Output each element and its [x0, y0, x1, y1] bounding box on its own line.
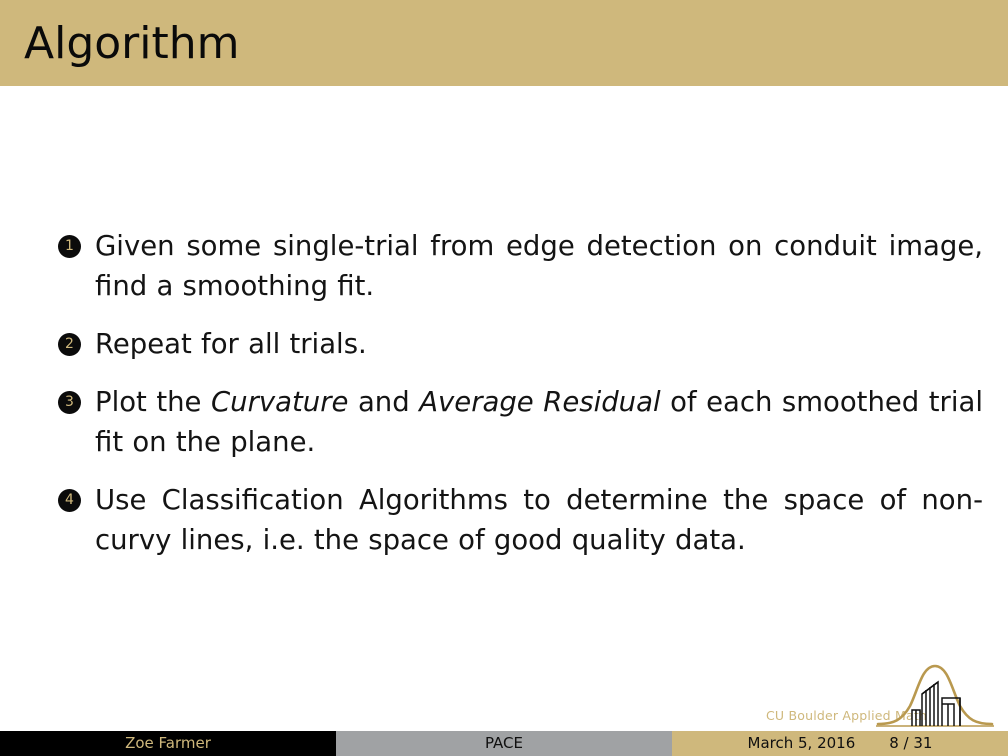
step-3-emph-curvature: Curvature	[211, 386, 349, 418]
list-item: 3 Plot the Curvature and Average Residua…	[58, 382, 983, 462]
step-3-text-middle: and	[348, 386, 419, 418]
list-item: 2 Repeat for all trials.	[58, 324, 983, 364]
footer-meta: March 5, 2016 8 / 31	[672, 731, 1008, 756]
list-item-text-4: Use Classification Algorithms to determi…	[95, 480, 983, 560]
slide-body: 1 Given some single-trial from edge dete…	[0, 86, 1008, 731]
footer-institute: PACE	[336, 731, 672, 756]
list-item: 4 Use Classification Algorithms to deter…	[58, 480, 983, 560]
bell-curve-over-buildings-icon	[876, 660, 994, 730]
step-4-text: Use Classification Algorithms to determi…	[95, 484, 983, 556]
slide-header: Algorithm	[0, 0, 1008, 86]
list-item-text-2: Repeat for all trials.	[95, 324, 983, 364]
list-item-text-3: Plot the Curvature and Average Residual …	[95, 382, 983, 462]
step-2-text: Repeat for all trials.	[95, 328, 367, 360]
institution-logo: CU Boulder Applied Math	[766, 660, 994, 732]
list-item: 1 Given some single-trial from edge dete…	[58, 226, 983, 306]
footer-date: March 5, 2016	[748, 731, 856, 756]
list-item-text-1: Given some single-trial from edge detect…	[95, 226, 983, 306]
slide-footer: Zoe Farmer PACE March 5, 2016 8 / 31	[0, 731, 1008, 756]
list-marker-4: 4	[58, 489, 81, 512]
step-3-text-before: Plot the	[95, 386, 211, 418]
step-1-text: Given some single-trial from edge detect…	[95, 230, 983, 302]
step-3-emph-average-residual: Average Residual	[419, 386, 660, 418]
list-marker-2: 2	[58, 333, 81, 356]
footer-page-number: 8 / 31	[889, 731, 932, 756]
footer-author: Zoe Farmer	[0, 731, 336, 756]
algorithm-step-list: 1 Given some single-trial from edge dete…	[58, 226, 983, 578]
list-marker-1: 1	[58, 235, 81, 258]
page-title: Algorithm	[24, 18, 240, 70]
list-marker-3: 3	[58, 391, 81, 414]
